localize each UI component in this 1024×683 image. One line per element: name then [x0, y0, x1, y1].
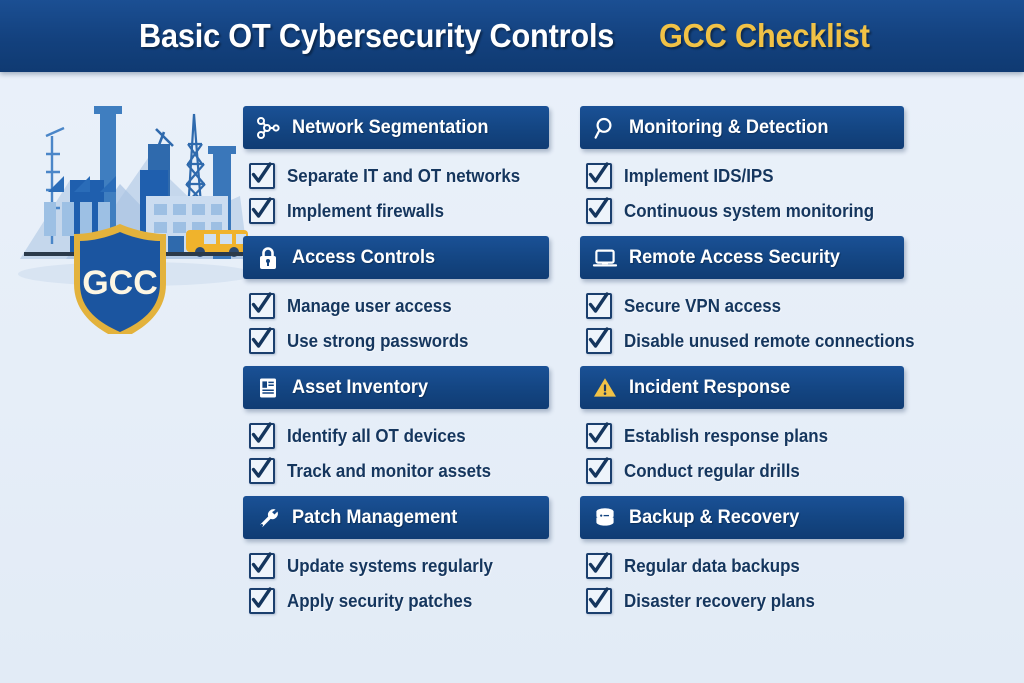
checkbox-checked-icon[interactable] — [249, 328, 275, 354]
section-header[interactable]: Access Controls — [243, 236, 549, 279]
checkbox-checked-icon[interactable] — [249, 553, 275, 579]
checklist: Separate IT and OT networksImplement fir… — [243, 149, 549, 224]
section-header[interactable]: Network Segmentation — [243, 106, 549, 149]
list-item[interactable]: Regular data backups — [586, 553, 904, 579]
industrial-plant-illustration: GCC — [8, 84, 254, 334]
checkbox-checked-icon[interactable] — [249, 423, 275, 449]
laptop-icon — [592, 245, 618, 271]
section-remote-access-security: Remote Access SecuritySecure VPN accessD… — [580, 236, 904, 354]
checklist: Implement IDS/IPSContinuous system monit… — [580, 149, 904, 224]
list-item[interactable]: Update systems regularly — [249, 553, 549, 579]
right-column: Monitoring & DetectionImplement IDS/IPSC… — [580, 106, 904, 626]
section-title: Network Segmentation — [292, 116, 489, 139]
checkbox-checked-icon[interactable] — [586, 293, 612, 319]
list-item[interactable]: Manage user access — [249, 293, 549, 319]
list-item[interactable]: Apply security patches — [249, 588, 549, 614]
list-item[interactable]: Secure VPN access — [586, 293, 904, 319]
checkbox-checked-icon[interactable] — [586, 423, 612, 449]
list-item[interactable]: Implement IDS/IPS — [586, 163, 904, 189]
list-item[interactable]: Implement firewalls — [249, 198, 549, 224]
page-title: Basic OT Cybersecurity Controls — [139, 17, 614, 55]
list-item[interactable]: Establish response plans — [586, 423, 904, 449]
list-item[interactable]: Disable unused remote connections — [586, 328, 904, 354]
checklist: Establish response plansConduct regular … — [580, 409, 904, 484]
wrench-icon — [255, 505, 281, 531]
section-header[interactable]: Asset Inventory — [243, 366, 549, 409]
page-title-bar: Basic OT Cybersecurity Controls GCC Chec… — [0, 0, 1024, 72]
checkbox-checked-icon[interactable] — [586, 553, 612, 579]
checkbox-checked-icon[interactable] — [586, 588, 612, 614]
list-item-label: Establish response plans — [624, 426, 828, 447]
section-title: Remote Access Security — [629, 246, 840, 269]
list-item-label: Update systems regularly — [287, 556, 493, 577]
checkbox-checked-icon[interactable] — [249, 588, 275, 614]
checklist: Identify all OT devicesTrack and monitor… — [243, 409, 549, 484]
page-title-accent: GCC Checklist — [659, 17, 870, 55]
list-item-label: Disaster recovery plans — [624, 591, 815, 612]
checkbox-checked-icon[interactable] — [249, 198, 275, 224]
list-item[interactable]: Disaster recovery plans — [586, 588, 904, 614]
list-item[interactable]: Track and monitor assets — [249, 458, 549, 484]
section-header[interactable]: Backup & Recovery — [580, 496, 904, 539]
section-network-segmentation: Network SegmentationSeparate IT and OT n… — [243, 106, 549, 224]
list-item-label: Use strong passwords — [287, 331, 468, 352]
section-title: Backup & Recovery — [629, 506, 799, 529]
list-item-label: Continuous system monitoring — [624, 201, 874, 222]
checklist: Secure VPN accessDisable unused remote c… — [580, 279, 904, 354]
list-item-label: Separate IT and OT networks — [287, 166, 520, 187]
section-access-controls: Access ControlsManage user accessUse str… — [243, 236, 549, 354]
network-nodes-icon — [255, 115, 281, 141]
list-item[interactable]: Identify all OT devices — [249, 423, 549, 449]
checkbox-checked-icon[interactable] — [249, 163, 275, 189]
checkbox-checked-icon[interactable] — [586, 198, 612, 224]
warning-triangle-icon — [592, 375, 618, 401]
list-item-label: Manage user access — [287, 296, 452, 317]
section-header[interactable]: Monitoring & Detection — [580, 106, 904, 149]
clipboard-document-icon — [255, 375, 281, 401]
shield-label: GCC — [82, 264, 158, 302]
infographic-page: Basic OT Cybersecurity Controls GCC Chec… — [0, 0, 1024, 683]
section-title: Patch Management — [292, 506, 457, 529]
checkbox-checked-icon[interactable] — [249, 458, 275, 484]
list-item[interactable]: Use strong passwords — [249, 328, 549, 354]
section-title: Incident Response — [629, 376, 790, 399]
list-item-label: Secure VPN access — [624, 296, 781, 317]
checklist: Manage user accessUse strong passwords — [243, 279, 549, 354]
list-item-label: Conduct regular drills — [624, 461, 800, 482]
list-item-label: Track and monitor assets — [287, 461, 491, 482]
list-item[interactable]: Continuous system monitoring — [586, 198, 904, 224]
list-item-label: Disable unused remote connections — [624, 331, 915, 352]
section-patch-management: Patch ManagementUpdate systems regularly… — [243, 496, 549, 614]
section-title: Access Controls — [292, 246, 435, 269]
section-title: Asset Inventory — [292, 376, 428, 399]
section-asset-inventory: Asset InventoryIdentify all OT devicesTr… — [243, 366, 549, 484]
lock-icon — [255, 245, 281, 271]
magnifier-icon — [592, 115, 618, 141]
section-header[interactable]: Remote Access Security — [580, 236, 904, 279]
list-item-label: Implement firewalls — [287, 201, 444, 222]
left-column: Network SegmentationSeparate IT and OT n… — [243, 106, 549, 626]
checklist: Regular data backupsDisaster recovery pl… — [580, 539, 904, 614]
list-item[interactable]: Separate IT and OT networks — [249, 163, 549, 189]
list-item-label: Implement IDS/IPS — [624, 166, 774, 187]
checklist: Update systems regularlyApply security p… — [243, 539, 549, 614]
section-backup-recovery: Backup & RecoveryRegular data backupsDis… — [580, 496, 904, 614]
checkbox-checked-icon[interactable] — [586, 163, 612, 189]
checkbox-checked-icon[interactable] — [586, 458, 612, 484]
section-header[interactable]: Patch Management — [243, 496, 549, 539]
list-item-label: Apply security patches — [287, 591, 472, 612]
database-icon — [592, 505, 618, 531]
section-incident-response: Incident ResponseEstablish response plan… — [580, 366, 904, 484]
section-title: Monitoring & Detection — [629, 116, 828, 139]
list-item[interactable]: Conduct regular drills — [586, 458, 904, 484]
list-item-label: Identify all OT devices — [287, 426, 466, 447]
section-header[interactable]: Incident Response — [580, 366, 904, 409]
list-item-label: Regular data backups — [624, 556, 800, 577]
section-monitoring-detection: Monitoring & DetectionImplement IDS/IPSC… — [580, 106, 904, 224]
checkbox-checked-icon[interactable] — [249, 293, 275, 319]
checkbox-checked-icon[interactable] — [586, 328, 612, 354]
